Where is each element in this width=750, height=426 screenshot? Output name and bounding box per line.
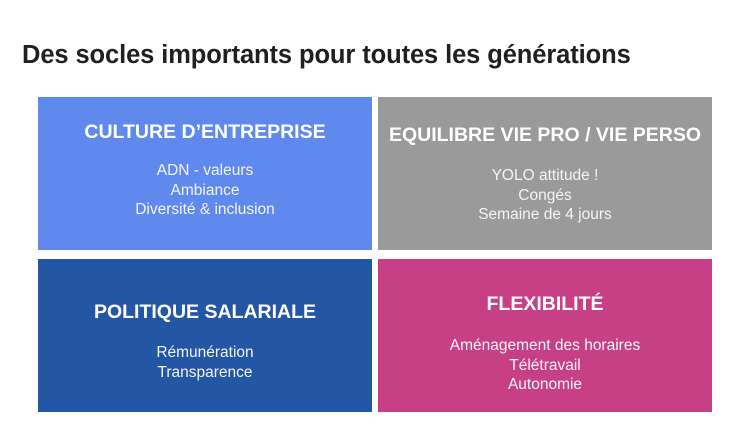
card-line: Congés bbox=[478, 186, 612, 206]
card-line: Aménagement des horaires bbox=[450, 336, 640, 356]
page-title: Des socles importants pour toutes les gé… bbox=[22, 41, 631, 69]
card-line: Semaine de 4 jours bbox=[478, 205, 612, 225]
card-body-politique-salariale: Rémunération Transparence bbox=[156, 343, 253, 382]
card-body-culture-entreprise: ADN - valeurs Ambiance Diversité & inclu… bbox=[135, 161, 275, 220]
card-line: Diversité & inclusion bbox=[135, 200, 275, 220]
card-politique-salariale[interactable]: POLITIQUE SALARIALE Rémunération Transpa… bbox=[38, 259, 372, 412]
card-body-equilibre-vie-pro-vie-perso: YOLO attitude ! Congés Semaine de 4 jour… bbox=[478, 166, 612, 225]
card-line: Ambiance bbox=[135, 181, 275, 201]
card-line: Télétravail bbox=[450, 356, 640, 376]
card-line: Rémunération bbox=[156, 343, 253, 363]
pillars-grid: CULTURE D’ENTREPRISE ADN - valeurs Ambia… bbox=[38, 97, 712, 412]
card-culture-entreprise[interactable]: CULTURE D’ENTREPRISE ADN - valeurs Ambia… bbox=[38, 97, 372, 250]
card-body-flexibilite: Aménagement des horaires Télétravail Aut… bbox=[450, 336, 640, 395]
card-heading-culture-entreprise: CULTURE D’ENTREPRISE bbox=[84, 121, 325, 143]
card-line: Autonomie bbox=[450, 375, 640, 395]
card-line: ADN - valeurs bbox=[135, 161, 275, 181]
card-heading-flexibilite: FLEXIBILITÉ bbox=[487, 293, 604, 315]
card-equilibre-vie-pro-vie-perso[interactable]: EQUILIBRE VIE PRO / VIE PERSO YOLO attit… bbox=[378, 97, 712, 250]
slide-canvas: Des socles importants pour toutes les gé… bbox=[0, 0, 750, 426]
card-heading-equilibre-vie-pro-vie-perso: EQUILIBRE VIE PRO / VIE PERSO bbox=[389, 124, 701, 146]
card-heading-politique-salariale: POLITIQUE SALARIALE bbox=[94, 301, 316, 323]
card-flexibilite[interactable]: FLEXIBILITÉ Aménagement des horaires Tél… bbox=[378, 259, 712, 412]
card-line: YOLO attitude ! bbox=[478, 166, 612, 186]
card-line: Transparence bbox=[156, 363, 253, 383]
